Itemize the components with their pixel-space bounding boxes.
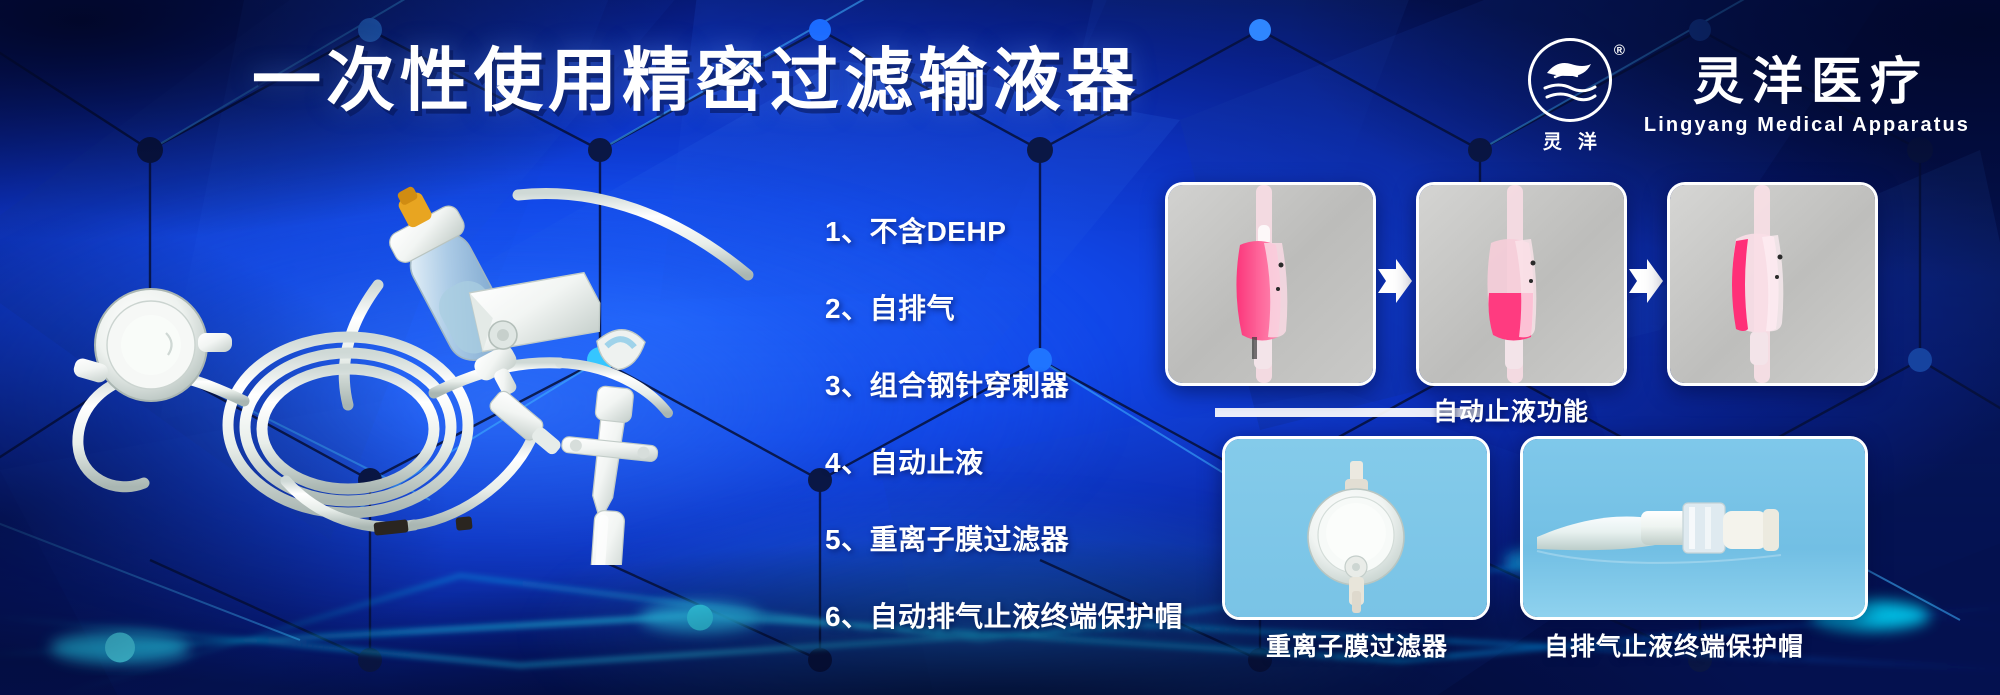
photo-auto-stop-step3 [1667, 182, 1878, 386]
feature-item-1: 1、不含DEHP [825, 218, 1183, 246]
logo-emblem: ® 灵洋 [1518, 38, 1622, 154]
logo-wordmark: 灵洋医疗 Lingyang Medical Apparatus [1644, 55, 1970, 137]
page-title: 一次性使用精密过滤输液器 [252, 46, 1140, 115]
hero-product-photo [48, 165, 808, 565]
caption-heavy-ion-filter: 重离子膜过滤器 [1266, 627, 1448, 663]
registered-trademark-icon: ® [1614, 43, 1625, 58]
feature-item-2: 2、自排气 [825, 295, 1183, 323]
product-banner: 一次性使用精密过滤输液器 ® 灵洋 灵洋医疗 Lingyang Medical … [0, 0, 2000, 695]
feature-item-3: 3、组合钢针穿刺器 [825, 372, 1183, 400]
company-name-cn: 灵洋医疗 [1685, 55, 1929, 109]
logo-emblem-subtext: 灵洋 [1527, 127, 1613, 154]
photo-auto-stop-step2 [1416, 182, 1627, 386]
photo-auto-stop-step1 [1165, 182, 1376, 386]
arrow-right-icon [1374, 255, 1414, 307]
company-name-en: Lingyang Medical Apparatus [1644, 114, 1970, 137]
feature-item-4: 4、自动止液 [825, 449, 1183, 477]
brand-logo: ® 灵洋 灵洋医疗 Lingyang Medical Apparatus [1518, 38, 1970, 154]
feature-list: 1、不含DEHP 2、自排气 3、组合钢针穿刺器 4、自动止液 5、重离子膜过滤… [825, 218, 1183, 631]
logo-circle-icon: ® [1528, 38, 1612, 122]
caption-auto-stop: 自动止液功能 [1433, 392, 1589, 428]
photo-heavy-ion-filter [1222, 436, 1490, 620]
caption-vent-stop-cap: 自排气止液终端保护帽 [1544, 627, 1804, 663]
feature-item-6: 6、自动排气止液终端保护帽 [825, 603, 1183, 631]
photo-vent-stop-cap [1520, 436, 1868, 620]
arrow-right-icon [1625, 255, 1665, 307]
feature-item-5: 5、重离子膜过滤器 [825, 526, 1183, 554]
